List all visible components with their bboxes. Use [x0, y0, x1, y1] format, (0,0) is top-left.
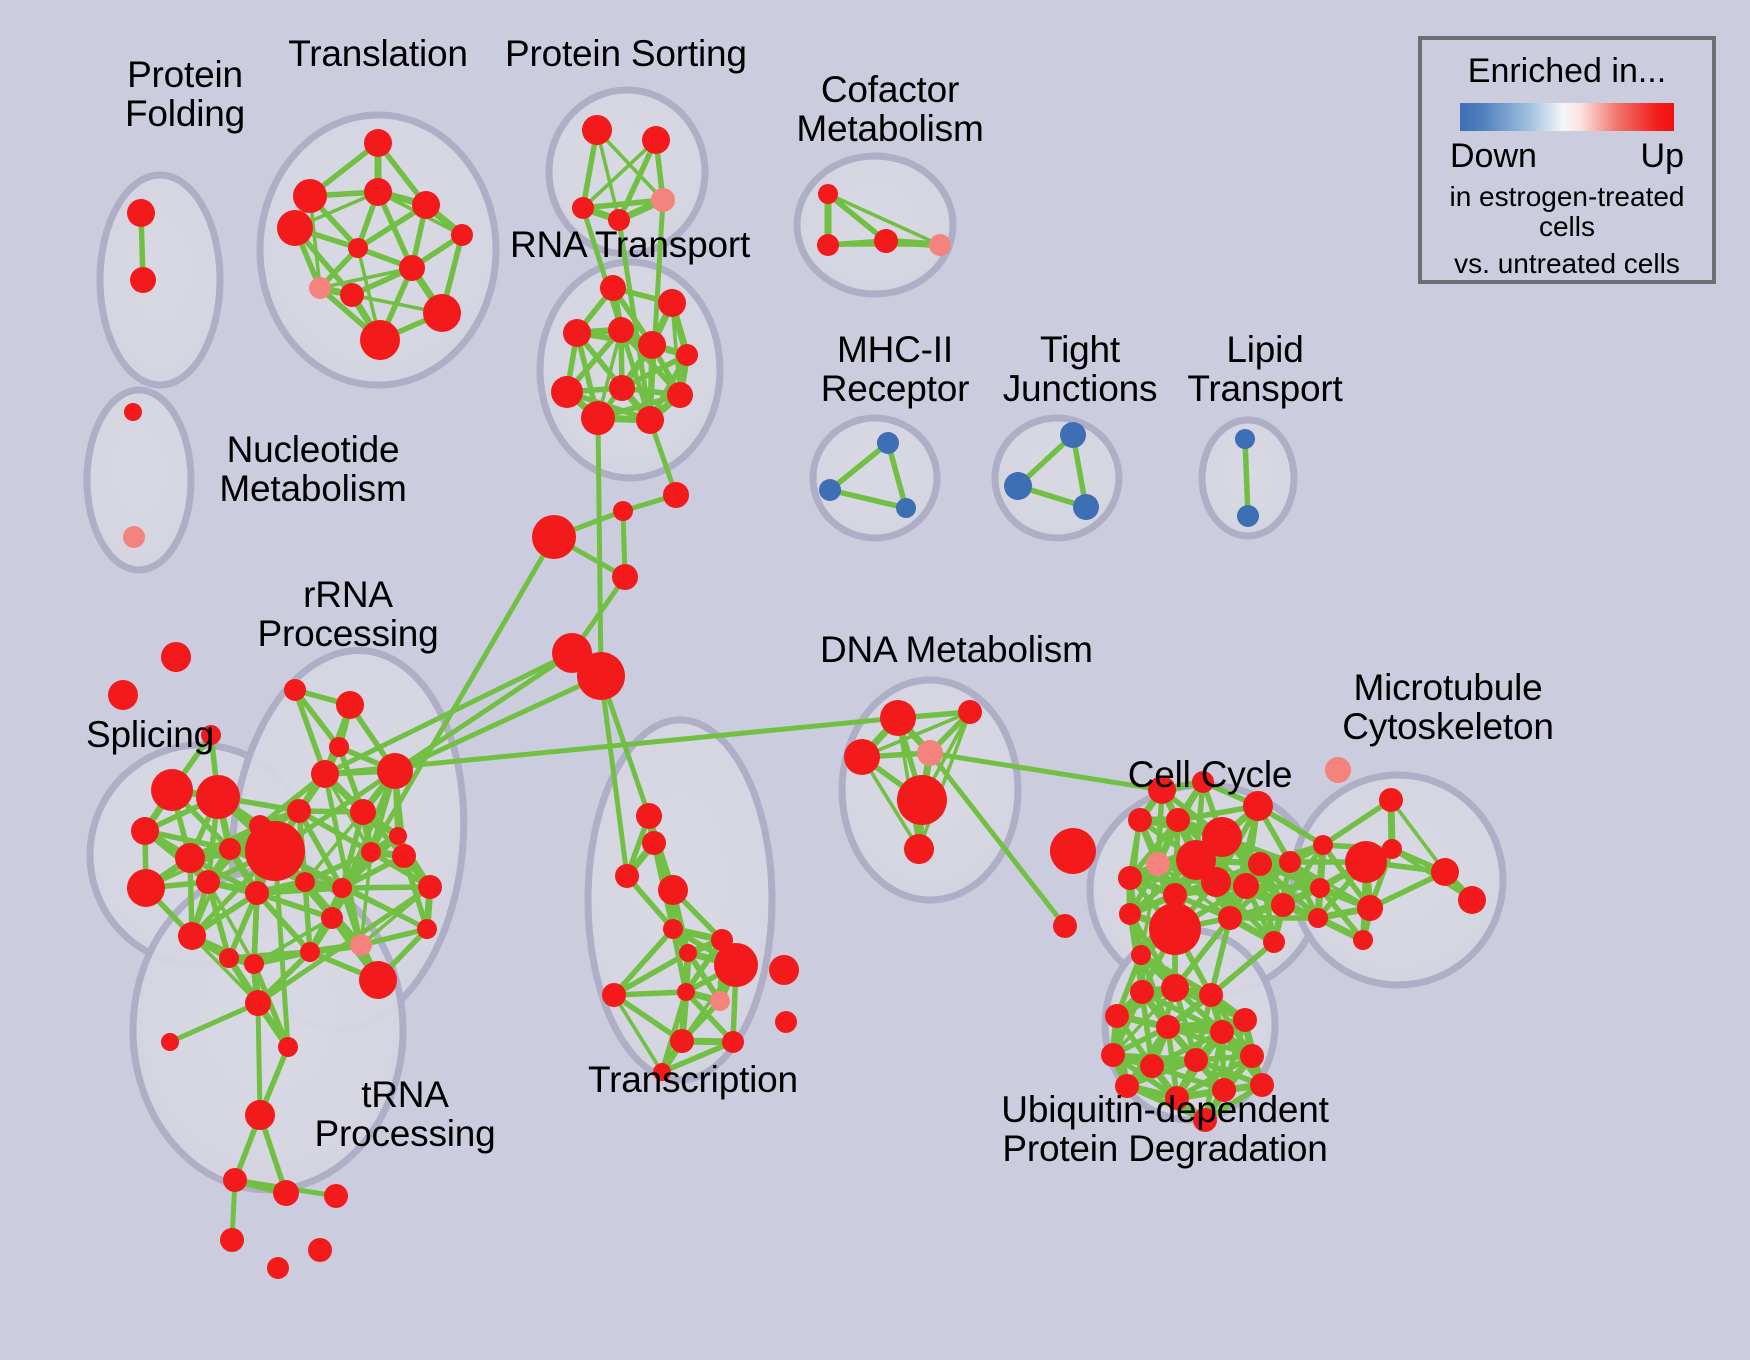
- network-node[interactable]: [329, 737, 349, 757]
- network-edge: [1245, 439, 1248, 516]
- network-node[interactable]: [1073, 494, 1099, 520]
- network-node[interactable]: [658, 289, 686, 317]
- network-node[interactable]: [581, 401, 615, 435]
- network-node[interactable]: [1240, 1044, 1264, 1068]
- network-node[interactable]: [1101, 1043, 1125, 1067]
- network-node[interactable]: [284, 679, 306, 701]
- network-node[interactable]: [350, 799, 376, 825]
- network-node[interactable]: [1218, 906, 1242, 930]
- network-node[interactable]: [332, 878, 352, 898]
- network-node[interactable]: [819, 479, 841, 501]
- network-node[interactable]: [917, 740, 943, 766]
- network-node[interactable]: [1128, 808, 1152, 832]
- network-node[interactable]: [551, 376, 583, 408]
- network-node[interactable]: [1004, 472, 1032, 500]
- legend-up-label: Up: [1641, 137, 1684, 176]
- network-node[interactable]: [277, 210, 313, 246]
- network-node[interactable]: [722, 1031, 744, 1053]
- network-node[interactable]: [1161, 974, 1189, 1002]
- network-node[interactable]: [877, 432, 899, 454]
- network-node[interactable]: [613, 501, 633, 521]
- network-node[interactable]: [1199, 983, 1223, 1007]
- cluster-label-cofactor-metabolism: Cofactor Metabolism: [790, 70, 990, 148]
- network-edge: [598, 418, 601, 676]
- network-node[interactable]: [1271, 893, 1295, 917]
- cluster-label-rna-transport: RNA Transport: [510, 225, 750, 264]
- cluster-label-nucleotide-metabolism: Nucleotide Metabolism: [193, 430, 433, 508]
- network-node[interactable]: [1156, 1015, 1180, 1039]
- network-node[interactable]: [818, 184, 838, 204]
- network-node[interactable]: [670, 1029, 694, 1053]
- cluster-ellipse-cofactor-metabolism: [797, 156, 953, 294]
- network-node[interactable]: [131, 817, 159, 845]
- network-node[interactable]: [679, 944, 697, 962]
- network-node[interactable]: [1345, 841, 1387, 883]
- cluster-label-trna-processing: tRNA Processing: [305, 1075, 505, 1153]
- network-node[interactable]: [1131, 945, 1151, 965]
- network-node[interactable]: [124, 403, 142, 421]
- network-node[interactable]: [309, 277, 331, 299]
- legend-down-label: Down: [1450, 137, 1537, 176]
- network-node[interactable]: [324, 1184, 348, 1208]
- network-node[interactable]: [1325, 757, 1351, 783]
- network-node[interactable]: [582, 115, 612, 145]
- network-node[interactable]: [1237, 505, 1259, 527]
- network-node[interactable]: [1235, 429, 1255, 449]
- network-node[interactable]: [287, 799, 311, 823]
- legend-caption-line-2: vs. untreated cells: [1454, 249, 1680, 280]
- network-node[interactable]: [642, 126, 670, 154]
- network-node[interactable]: [710, 991, 730, 1011]
- network-node[interactable]: [196, 870, 220, 894]
- network-node[interactable]: [658, 875, 688, 905]
- network-node[interactable]: [602, 983, 626, 1007]
- network-node[interactable]: [636, 406, 664, 434]
- network-node[interactable]: [273, 1180, 299, 1206]
- network-node[interactable]: [642, 831, 666, 855]
- network-node[interactable]: [220, 1228, 244, 1252]
- network-node[interactable]: [244, 954, 264, 974]
- network-node[interactable]: [1184, 1048, 1208, 1072]
- network-node[interactable]: [775, 1011, 797, 1033]
- network-node[interactable]: [340, 283, 364, 307]
- cluster-label-rrna-processing: rRNA Processing: [248, 575, 448, 653]
- legend-title: Enriched in...: [1468, 52, 1666, 91]
- network-node[interactable]: [361, 842, 381, 862]
- network-node[interactable]: [1050, 828, 1096, 874]
- network-node[interactable]: [321, 907, 343, 929]
- cluster-label-protein-folding: Protein Folding: [85, 55, 285, 133]
- cluster-label-lipid-transport: Lipid Transport: [1170, 330, 1360, 408]
- network-node[interactable]: [880, 700, 916, 736]
- network-node[interactable]: [245, 1100, 275, 1130]
- network-node[interactable]: [663, 919, 683, 939]
- network-node[interactable]: [904, 834, 934, 864]
- network-node[interactable]: [1146, 852, 1170, 876]
- network-node[interactable]: [1140, 1054, 1164, 1078]
- network-node[interactable]: [1379, 788, 1403, 812]
- cluster-label-cell-cycle: Cell Cycle: [1110, 755, 1310, 794]
- network-node[interactable]: [1243, 791, 1273, 821]
- legend-panel: Enriched in... Down Up in estrogen-treat…: [1418, 36, 1716, 284]
- network-node[interactable]: [219, 948, 239, 968]
- network-node[interactable]: [389, 827, 407, 845]
- network-node[interactable]: [359, 961, 397, 999]
- network-node[interactable]: [1210, 1020, 1234, 1044]
- cluster-label-mhc-ii-receptor: MHC-II Receptor: [800, 330, 990, 408]
- network-node[interactable]: [1053, 914, 1077, 938]
- network-node[interactable]: [1353, 930, 1373, 950]
- cluster-label-transcription: Transcription: [578, 1060, 808, 1099]
- cluster-ellipse-protein-folding: [100, 175, 220, 385]
- network-node[interactable]: [348, 238, 368, 258]
- network-node[interactable]: [451, 224, 473, 246]
- network-node[interactable]: [1201, 867, 1231, 897]
- network-node[interactable]: [676, 344, 698, 366]
- network-node[interactable]: [1263, 931, 1285, 953]
- network-node[interactable]: [1310, 878, 1330, 898]
- network-node[interactable]: [1130, 980, 1154, 1004]
- network-node[interactable]: [572, 197, 594, 219]
- network-node[interactable]: [360, 320, 400, 360]
- network-node[interactable]: [377, 753, 413, 789]
- network-node[interactable]: [364, 129, 392, 157]
- network-enrichment-map: Protein FoldingTranslationNucleotide Met…: [0, 0, 1750, 1360]
- cluster-label-splicing: Splicing: [60, 715, 240, 754]
- network-node[interactable]: [532, 515, 576, 559]
- network-node[interactable]: [638, 331, 666, 359]
- network-node[interactable]: [399, 255, 425, 281]
- network-node[interactable]: [1060, 422, 1086, 448]
- legend-endpoints: Down Up: [1450, 137, 1684, 176]
- legend-color-gradient-bar: [1460, 103, 1674, 131]
- network-node[interactable]: [295, 872, 315, 892]
- network-node[interactable]: [178, 922, 206, 950]
- network-node[interactable]: [196, 775, 240, 819]
- network-node[interactable]: [175, 843, 205, 873]
- legend-caption-line-1: in estrogen-treated cells: [1422, 182, 1712, 244]
- network-node[interactable]: [245, 990, 271, 1016]
- network-node[interactable]: [1149, 903, 1201, 955]
- cluster-label-tight-junctions: Tight Junctions: [985, 330, 1175, 408]
- network-node[interactable]: [1458, 886, 1486, 914]
- network-node[interactable]: [636, 803, 662, 829]
- network-node[interactable]: [417, 919, 437, 939]
- network-node[interactable]: [223, 1168, 247, 1192]
- network-node[interactable]: [612, 564, 638, 590]
- network-node[interactable]: [1431, 858, 1459, 886]
- network-node[interactable]: [245, 881, 269, 905]
- network-node[interactable]: [127, 199, 155, 227]
- network-node[interactable]: [161, 1033, 179, 1051]
- network-node[interactable]: [423, 294, 461, 332]
- network-node[interactable]: [667, 382, 693, 408]
- network-node[interactable]: [896, 498, 916, 518]
- network-node[interactable]: [929, 234, 951, 256]
- cluster-ellipse-mhc-ii-receptor: [813, 418, 937, 538]
- network-node[interactable]: [123, 526, 145, 548]
- network-node[interactable]: [874, 229, 898, 253]
- network-node[interactable]: [151, 769, 193, 811]
- network-node[interactable]: [108, 680, 138, 710]
- network-node[interactable]: [161, 642, 191, 672]
- network-node[interactable]: [1233, 873, 1259, 899]
- network-node[interactable]: [1313, 835, 1333, 855]
- network-node[interactable]: [418, 875, 442, 899]
- network-node[interactable]: [364, 178, 392, 206]
- network-node[interactable]: [293, 179, 327, 213]
- network-node[interactable]: [127, 869, 165, 907]
- network-node[interactable]: [817, 234, 839, 256]
- network-node[interactable]: [130, 267, 156, 293]
- network-node[interactable]: [844, 739, 880, 775]
- network-node[interactable]: [1233, 1008, 1257, 1032]
- network-node[interactable]: [350, 934, 372, 956]
- network-node[interactable]: [609, 375, 635, 401]
- network-node[interactable]: [615, 864, 639, 888]
- network-node[interactable]: [300, 942, 320, 962]
- cluster-label-ubiquitin-protein-degradation: Ubiquitin-dependent Protein Degradation: [995, 1090, 1335, 1168]
- network-node[interactable]: [897, 775, 947, 825]
- network-node[interactable]: [663, 482, 689, 508]
- network-node[interactable]: [1119, 903, 1141, 925]
- cluster-label-microtubule-cytoskeleton: Microtubule Cytoskeleton: [1318, 668, 1578, 746]
- network-node[interactable]: [308, 1238, 332, 1262]
- network-node[interactable]: [412, 191, 440, 219]
- network-node[interactable]: [336, 691, 364, 719]
- network-node[interactable]: [769, 955, 799, 985]
- network-node[interactable]: [1118, 866, 1142, 890]
- network-node[interactable]: [608, 317, 634, 343]
- network-node[interactable]: [245, 821, 305, 881]
- network-node[interactable]: [563, 319, 591, 347]
- network-node[interactable]: [1357, 895, 1383, 921]
- network-node[interactable]: [600, 275, 626, 301]
- network-node[interactable]: [267, 1257, 289, 1279]
- network-node[interactable]: [278, 1037, 298, 1057]
- network-node[interactable]: [219, 838, 241, 860]
- network-node[interactable]: [677, 983, 695, 1001]
- network-node[interactable]: [392, 844, 416, 868]
- network-node[interactable]: [1105, 1004, 1129, 1028]
- cluster-label-protein-sorting: Protein Sorting: [505, 34, 745, 73]
- network-node[interactable]: [311, 760, 339, 788]
- network-edge: [258, 1003, 260, 1115]
- cluster-label-translation: Translation: [268, 34, 488, 73]
- network-node[interactable]: [1279, 851, 1301, 873]
- network-node[interactable]: [651, 188, 675, 212]
- network-node[interactable]: [958, 700, 982, 724]
- cluster-label-dna-metabolism: DNA Metabolism: [820, 630, 1070, 669]
- network-node[interactable]: [1166, 808, 1190, 832]
- network-node[interactable]: [1248, 852, 1272, 876]
- network-node[interactable]: [714, 943, 758, 987]
- network-node[interactable]: [577, 652, 625, 700]
- network-node[interactable]: [1308, 908, 1328, 928]
